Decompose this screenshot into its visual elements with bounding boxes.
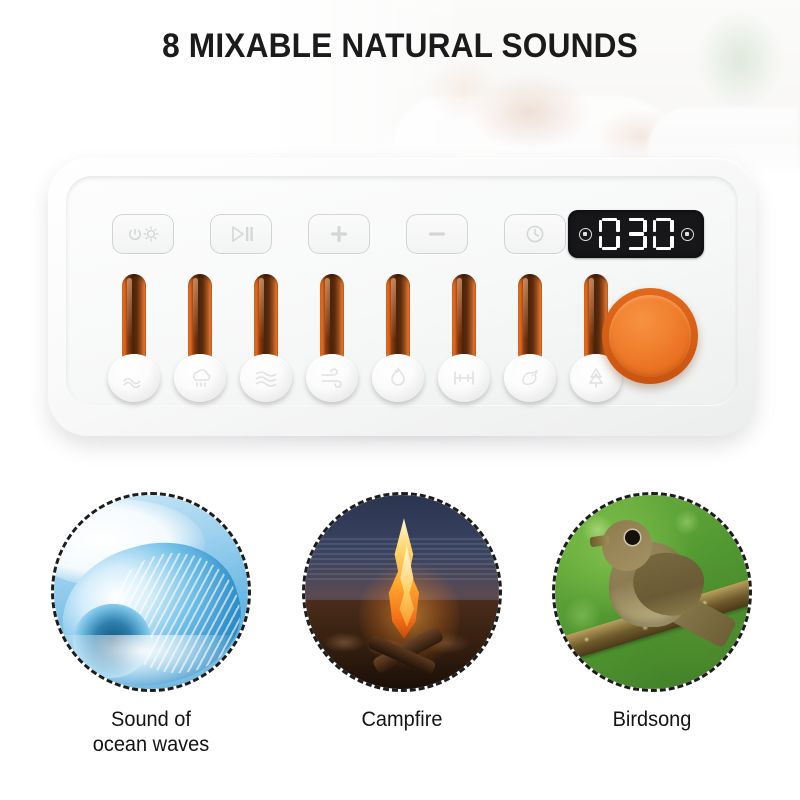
digit-2 bbox=[653, 218, 674, 250]
sound-card-image-birdsong bbox=[552, 492, 752, 692]
sound-card-caption-campfire: Campfire bbox=[293, 708, 512, 733]
volume-down-button[interactable] bbox=[406, 214, 468, 254]
slider-track[interactable] bbox=[452, 274, 476, 366]
wave-icon bbox=[122, 368, 146, 388]
minus-icon bbox=[427, 224, 447, 244]
digit-1 bbox=[626, 218, 647, 250]
slider-track[interactable] bbox=[518, 274, 542, 366]
ocean-wave-photo bbox=[54, 495, 248, 689]
led-display bbox=[568, 210, 704, 258]
page-title: 8 MIXABLE NATURAL SOUNDS bbox=[28, 27, 772, 66]
slider-knob[interactable] bbox=[372, 354, 424, 402]
sound-slider-row bbox=[108, 274, 622, 402]
display-digits bbox=[599, 218, 674, 250]
slider-track[interactable] bbox=[254, 274, 278, 366]
power-light-icon bbox=[126, 225, 160, 243]
slider-knob[interactable] bbox=[306, 354, 358, 402]
slider-knob[interactable] bbox=[240, 354, 292, 402]
gear-indicator-icon bbox=[681, 228, 694, 241]
slider-knob[interactable] bbox=[108, 354, 160, 402]
slider-track[interactable] bbox=[188, 274, 212, 366]
campfire-photo bbox=[305, 495, 499, 689]
bird-on-branch-photo bbox=[555, 495, 749, 689]
marketing-image: 8 MIXABLE NATURAL SOUNDS bbox=[0, 0, 800, 800]
tree-icon bbox=[585, 367, 607, 389]
slider-rain[interactable] bbox=[174, 274, 226, 402]
slider-birdsong[interactable] bbox=[504, 274, 556, 402]
timer-icon bbox=[524, 223, 546, 245]
slider-knob[interactable] bbox=[174, 354, 226, 402]
slider-track[interactable] bbox=[386, 274, 410, 366]
slider-track[interactable] bbox=[320, 274, 344, 366]
slider-stream[interactable] bbox=[240, 274, 292, 402]
rain-icon bbox=[188, 367, 212, 389]
digit-0 bbox=[599, 218, 620, 250]
sound-machine-device bbox=[48, 158, 756, 436]
volume-knob-face bbox=[609, 295, 691, 377]
slider-white-noise[interactable] bbox=[438, 274, 490, 402]
sound-card-caption-birdsong: Birdsong bbox=[543, 708, 762, 733]
slider-ocean-waves[interactable] bbox=[108, 274, 160, 402]
wind-icon bbox=[320, 368, 344, 388]
slider-track[interactable] bbox=[122, 274, 146, 366]
plus-icon bbox=[329, 224, 349, 244]
sound-card-campfire: Campfire bbox=[287, 492, 517, 733]
volume-knob[interactable] bbox=[602, 288, 698, 384]
power-light-button[interactable] bbox=[112, 214, 174, 254]
slider-knob[interactable] bbox=[504, 354, 556, 402]
clock-indicator-icon bbox=[579, 228, 592, 241]
slider-wind[interactable] bbox=[306, 274, 358, 402]
device-control-panel bbox=[66, 176, 738, 406]
slider-knob[interactable] bbox=[438, 354, 490, 402]
sound-card-birdsong: Birdsong bbox=[537, 492, 767, 733]
sound-card-row: Sound of ocean waves Campfire bbox=[0, 492, 800, 792]
slider-campfire[interactable] bbox=[372, 274, 424, 402]
play-pause-icon bbox=[228, 225, 254, 243]
timer-button[interactable] bbox=[504, 214, 566, 254]
fire-icon bbox=[388, 367, 408, 389]
sound-card-ocean-waves: Sound of ocean waves bbox=[36, 492, 266, 758]
sound-card-caption-ocean-waves: Sound of ocean waves bbox=[42, 708, 261, 758]
play-pause-button[interactable] bbox=[210, 214, 272, 254]
sound-card-image-campfire bbox=[302, 492, 502, 692]
volume-up-button[interactable] bbox=[308, 214, 370, 254]
stream-icon bbox=[254, 368, 278, 388]
control-button-row bbox=[112, 214, 566, 254]
bird-icon bbox=[519, 367, 541, 389]
noise-icon bbox=[452, 368, 476, 388]
sound-card-image-ocean-waves bbox=[51, 492, 251, 692]
